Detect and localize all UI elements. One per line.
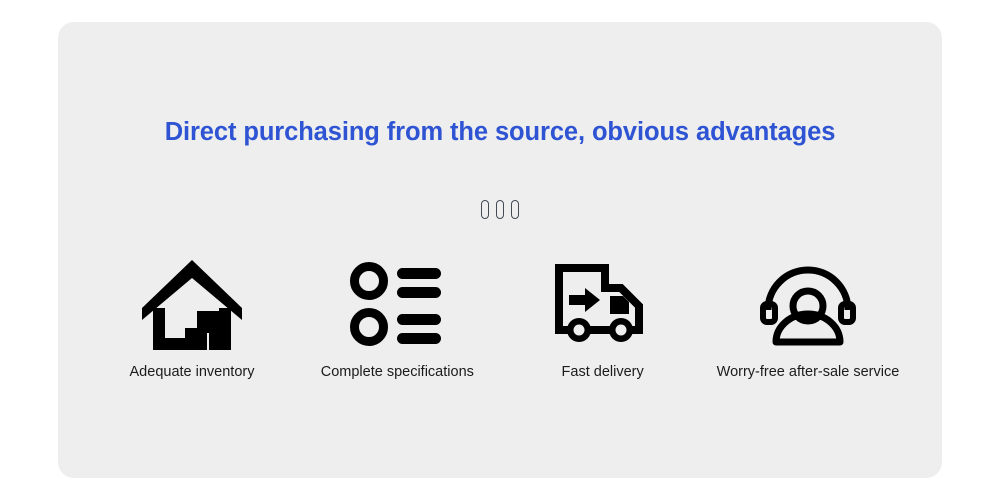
- page-title: Direct purchasing from the source, obvio…: [58, 118, 942, 147]
- delivery-truck-icon: [555, 252, 651, 356]
- feature-item[interactable]: Complete specifications: [295, 252, 499, 382]
- pill-icon: [481, 200, 489, 219]
- feature-label: Complete specifications: [321, 362, 474, 382]
- feature-item[interactable]: Worry-free after-sale service: [706, 252, 910, 382]
- pill-icon: [511, 200, 519, 219]
- pill-icon: [496, 200, 504, 219]
- headset-support-agent-icon: [760, 252, 856, 356]
- feature-list: Adequate inventory Complete specificatio…: [58, 252, 942, 382]
- specification-list-icon: [349, 252, 445, 356]
- divider-ornament: [58, 200, 942, 219]
- feature-item[interactable]: Adequate inventory: [90, 252, 294, 382]
- feature-label: Adequate inventory: [130, 362, 255, 382]
- feature-label: Fast delivery: [562, 362, 644, 382]
- warehouse-house-icon: [140, 252, 244, 356]
- feature-item[interactable]: Fast delivery: [501, 252, 705, 382]
- page-root: Direct purchasing from the source, obvio…: [0, 0, 1000, 499]
- advantages-panel: Direct purchasing from the source, obvio…: [58, 22, 942, 478]
- feature-label: Worry-free after-sale service: [717, 362, 900, 382]
